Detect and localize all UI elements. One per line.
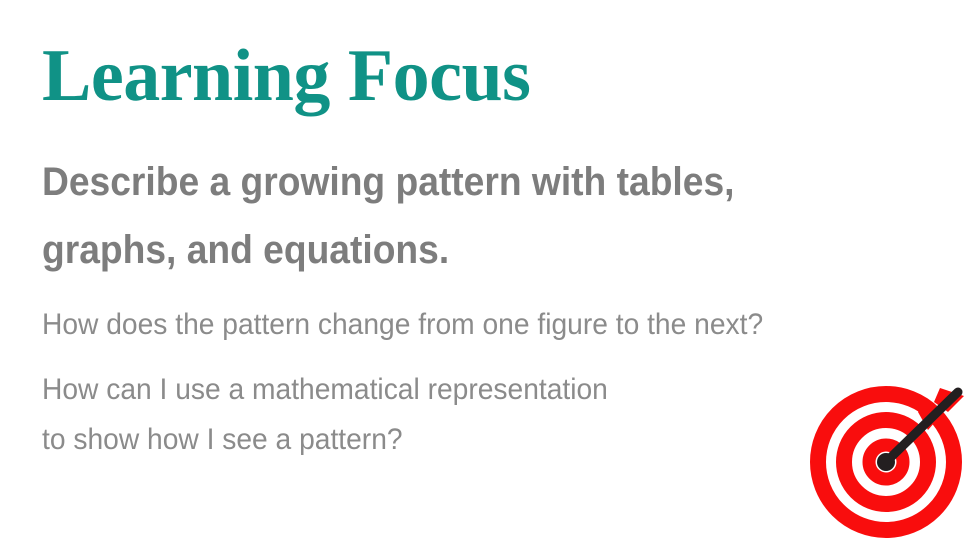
learning-objective-line-2: graphs, and equations. — [42, 216, 879, 284]
guiding-question-1: How does the pattern change from one fig… — [42, 300, 763, 350]
guiding-question-2-line-2: to show how I see a pattern? — [42, 415, 608, 465]
page-title: Learning Focus — [42, 36, 530, 116]
guiding-question-1-line-1: How does the pattern change from one fig… — [42, 300, 763, 350]
target-with-arrow-icon — [808, 386, 968, 546]
arrow-tip-dot — [877, 453, 895, 471]
slide-canvas: Learning Focus Describe a growing patter… — [0, 0, 978, 550]
learning-objective-statement: Describe a growing pattern with tables, … — [42, 148, 879, 284]
guiding-question-2-line-1: How can I use a mathematical representat… — [42, 365, 608, 415]
learning-objective-line-1: Describe a growing pattern with tables, — [42, 148, 879, 216]
target-with-arrow-graphic — [808, 386, 968, 546]
guiding-question-2: How can I use a mathematical representat… — [42, 365, 608, 465]
